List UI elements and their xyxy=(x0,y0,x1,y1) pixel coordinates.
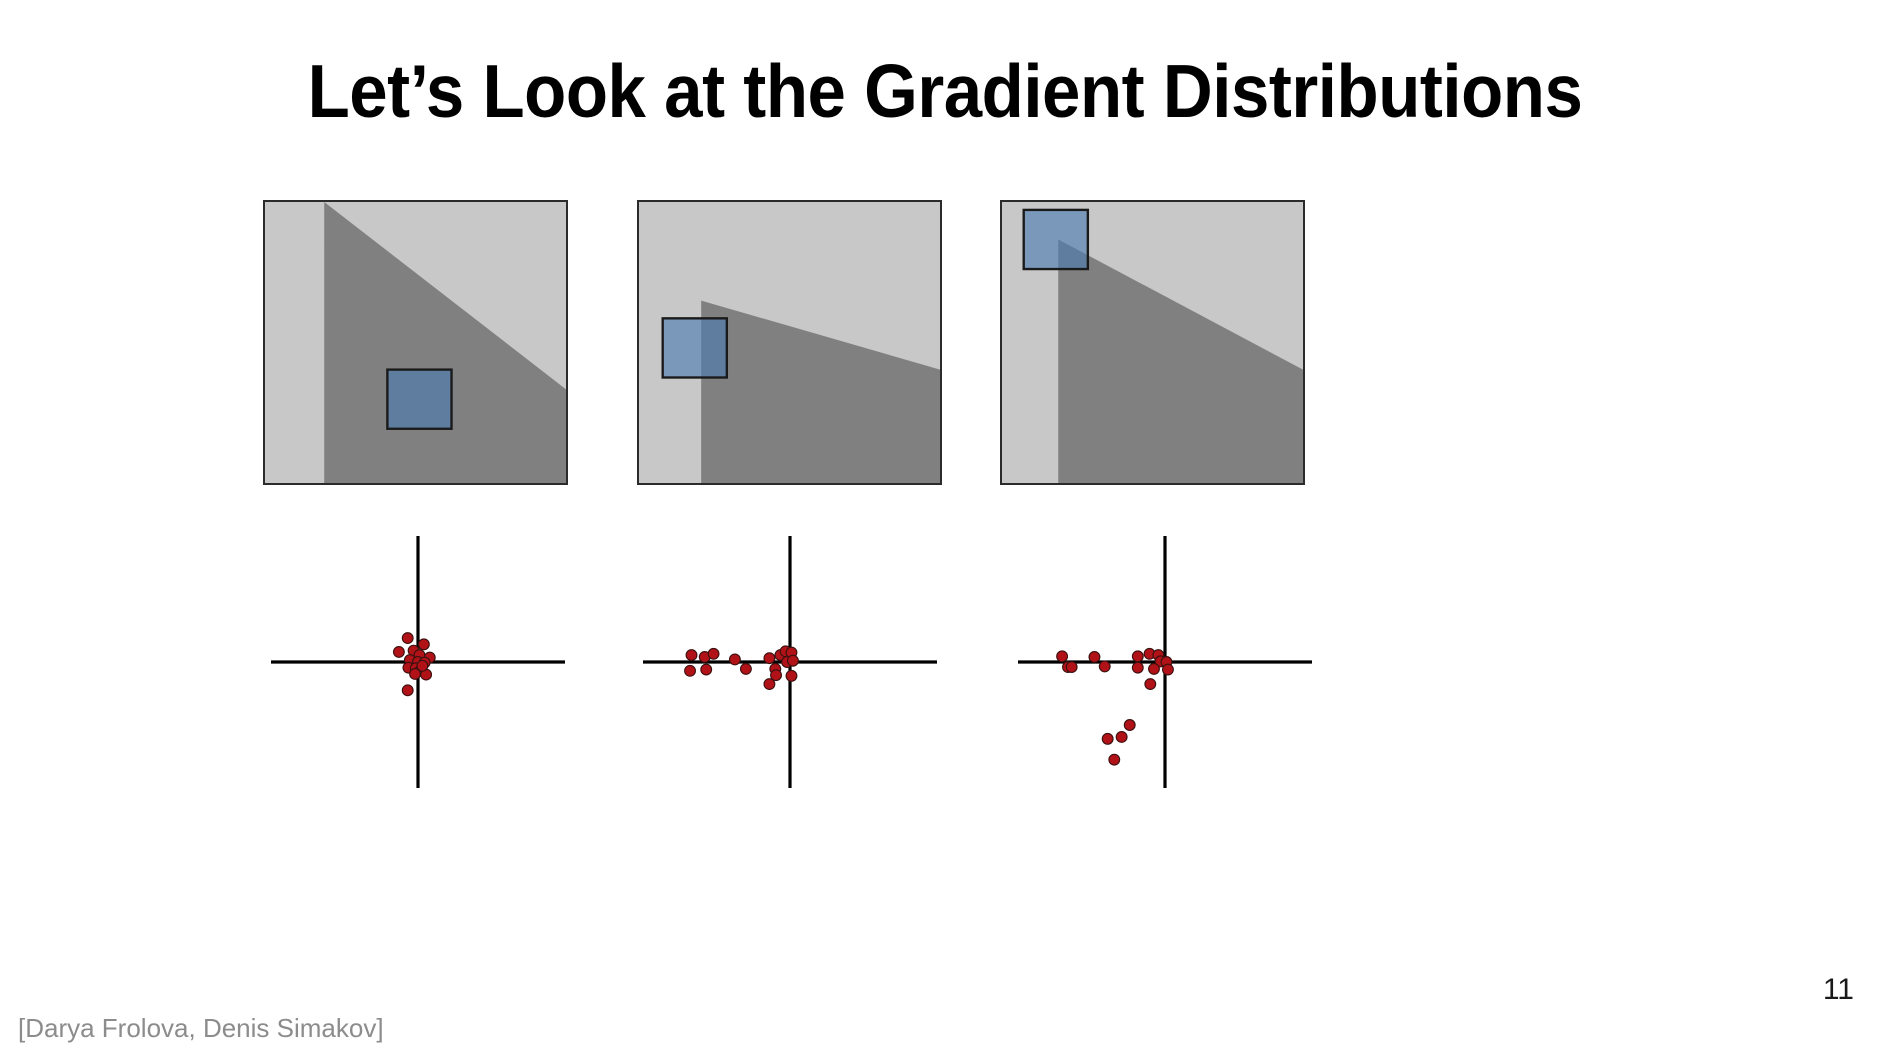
scatter-point xyxy=(788,655,799,666)
slide-canvas: Let’s Look at the Gradient Distributions xyxy=(0,0,1890,1062)
scatter-plot-1-points xyxy=(393,633,435,696)
image-panel-1 xyxy=(263,200,568,485)
scatter-point xyxy=(708,648,719,659)
scatter-point xyxy=(1057,651,1068,662)
scatter-point xyxy=(393,647,404,658)
scatter-point xyxy=(402,633,413,644)
scatter-point xyxy=(764,653,775,664)
scatter-plot-1-svg xyxy=(253,528,583,796)
scatter-point xyxy=(1132,651,1143,662)
scatter-plot-3-svg xyxy=(1000,528,1330,796)
scatter-point xyxy=(786,670,797,681)
attribution-text: [Darya Frolova, Denis Simakov] xyxy=(18,1013,384,1044)
scatter-point xyxy=(729,654,740,665)
scatter-point xyxy=(701,664,712,675)
scatter-point xyxy=(686,650,697,661)
scatter-plot-2 xyxy=(625,528,955,796)
scatter-point xyxy=(417,660,428,671)
scatter-plot-3 xyxy=(1000,528,1330,796)
image-panel-2 xyxy=(637,200,942,485)
scatter-point xyxy=(402,685,413,696)
scatter-point xyxy=(1145,679,1156,690)
panel-1-graphic xyxy=(265,202,566,483)
scatter-point xyxy=(1102,733,1113,744)
panel-2-graphic xyxy=(639,202,940,483)
scatter-plot-1 xyxy=(253,528,583,796)
scatter-point xyxy=(1149,664,1160,675)
scatter-plot-2-svg xyxy=(625,528,955,796)
scatter-point xyxy=(1124,720,1135,731)
page-number: 11 xyxy=(1823,973,1854,1007)
panel-2-patch xyxy=(663,318,727,377)
scatter-point xyxy=(418,639,429,650)
scatter-point xyxy=(1089,652,1100,663)
scatter-point xyxy=(1099,661,1110,672)
scatter-point xyxy=(1116,732,1127,743)
scatter-plot-3-points xyxy=(1057,648,1174,765)
scatter-point xyxy=(1132,662,1143,673)
scatter-plot-2-points xyxy=(685,646,799,690)
scatter-point xyxy=(764,679,775,690)
panel-3-graphic xyxy=(1002,202,1303,483)
panel-1-patch xyxy=(387,370,451,429)
scatter-point xyxy=(741,664,752,675)
page-title: Let’s Look at the Gradient Distributions xyxy=(76,52,1815,131)
image-panel-3 xyxy=(1000,200,1305,485)
scatter-point xyxy=(685,665,696,676)
scatter-point xyxy=(1066,662,1077,673)
scatter-point xyxy=(1163,664,1174,675)
panel-3-patch xyxy=(1024,210,1088,269)
scatter-point xyxy=(1109,754,1120,765)
